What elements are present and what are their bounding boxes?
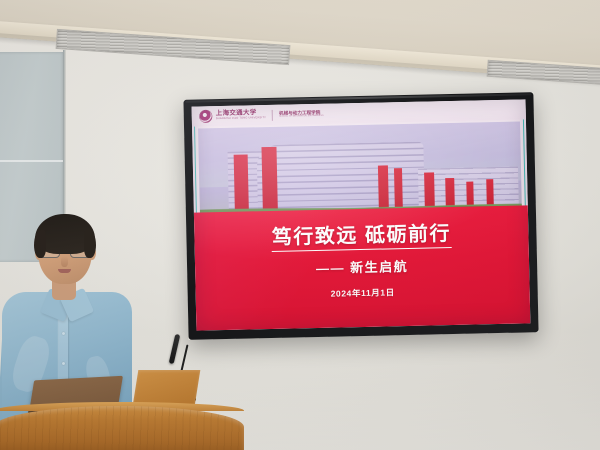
shirt-button-2 <box>62 362 65 365</box>
slide-date: 2024年11月1日 <box>330 286 394 299</box>
slide-subtitle: —— 新生启航 <box>316 256 409 277</box>
university-name-block: 上海交通大学 SHANGHAI JIAO TONG UNIVERSITY <box>216 110 266 121</box>
presenter-hair-side-right <box>84 230 96 258</box>
lecture-hall-scene: 上海交通大学 SHANGHAI JIAO TONG UNIVERSITY 机械与… <box>0 0 600 450</box>
school-name-block: 机械与动力工程学院 SCHOOL OF MECHANICAL ENGINEERI… <box>279 110 324 118</box>
presenter-hair-side-left <box>34 230 46 258</box>
shirt-button-1 <box>62 332 65 335</box>
display-screen: 上海交通大学 SHANGHAI JIAO TONG UNIVERSITY 机械与… <box>192 99 531 330</box>
sjtu-seal-icon <box>200 110 212 122</box>
slide-title: 笃行致远 砥砺前行 <box>272 223 452 252</box>
school-name-en: SCHOOL OF MECHANICAL ENGINEERING <box>279 115 324 118</box>
presentation-slide: 上海交通大学 SHANGHAI JIAO TONG UNIVERSITY 机械与… <box>192 99 531 330</box>
university-name-en: SHANGHAI JIAO TONG UNIVERSITY <box>216 118 266 122</box>
podium-wood-grain <box>0 406 244 450</box>
left-wall-panel-seam <box>0 160 65 162</box>
wall-mounted-display[interactable]: 上海交通大学 SHANGHAI JIAO TONG UNIVERSITY 机械与… <box>183 92 538 340</box>
logo-divider <box>272 109 273 120</box>
presenter-mouth <box>58 269 71 273</box>
display-bezel: 上海交通大学 SHANGHAI JIAO TONG UNIVERSITY 机械与… <box>183 92 538 340</box>
slide-title-block: 笃行致远 砥砺前行 —— 新生启航 2024年11月1日 <box>194 205 530 330</box>
wooden-podium <box>0 392 244 450</box>
microphone-capsule <box>169 334 181 364</box>
